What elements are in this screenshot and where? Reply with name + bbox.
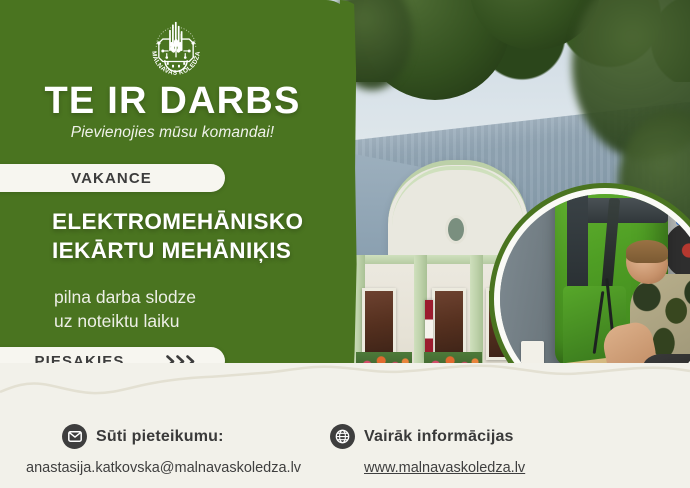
job-title-line-1: ELEKTROMEHĀNISKO (52, 208, 348, 237)
window (362, 288, 396, 360)
person-hair (626, 240, 668, 263)
job-meta-line-1: pilna darba slodze (54, 286, 344, 310)
oval-window (445, 215, 467, 244)
footer-website-heading: Vairāk informācijas (330, 424, 525, 449)
job-title-line-2: IEKĀRTU MEHĀNIĶIS (52, 237, 348, 266)
page-subtitle: Pievienojies mūsu komandai! (0, 124, 345, 142)
footer-email-block: Sūti pieteikumu: anastasija.katkovska@ma… (26, 424, 301, 476)
page-title: TE IR DARBS (0, 82, 345, 120)
globe-icon (330, 424, 355, 449)
footer-email-title: Sūti pieteikumu: (96, 428, 224, 446)
footer-website-title: Vairāk informācijas (364, 428, 514, 446)
malnavas-koledza-logo: MALNAVAS KOLEDŽA (143, 14, 209, 80)
footer-website-block: Vairāk informācijas www.malnavaskoledza.… (330, 424, 525, 476)
footer-email-value[interactable]: anastasija.katkovska@malnavaskoledza.lv (26, 460, 301, 476)
job-meta-line-2: uz noteiktu laiku (54, 310, 344, 334)
envelope-icon (62, 424, 87, 449)
latvian-flag (425, 300, 433, 358)
torn-edge (0, 362, 690, 408)
job-vacancy-poster: MALNAVAS KOLEDŽA TE IR DARBS Pievienojie… (0, 0, 690, 488)
vacancy-badge-label: VAKANCE (45, 170, 152, 187)
job-meta: pilna darba slodze uz noteiktu laiku (54, 286, 344, 333)
window (432, 288, 466, 360)
job-title: ELEKTROMEHĀNISKO IEKĀRTU MEHĀNIĶIS (52, 208, 348, 265)
vacancy-badge: VAKANCE (0, 164, 225, 192)
footer-email-heading: Sūti pieteikumu: (26, 424, 301, 449)
footer-website-link[interactable]: www.malnavaskoledza.lv (364, 460, 525, 476)
